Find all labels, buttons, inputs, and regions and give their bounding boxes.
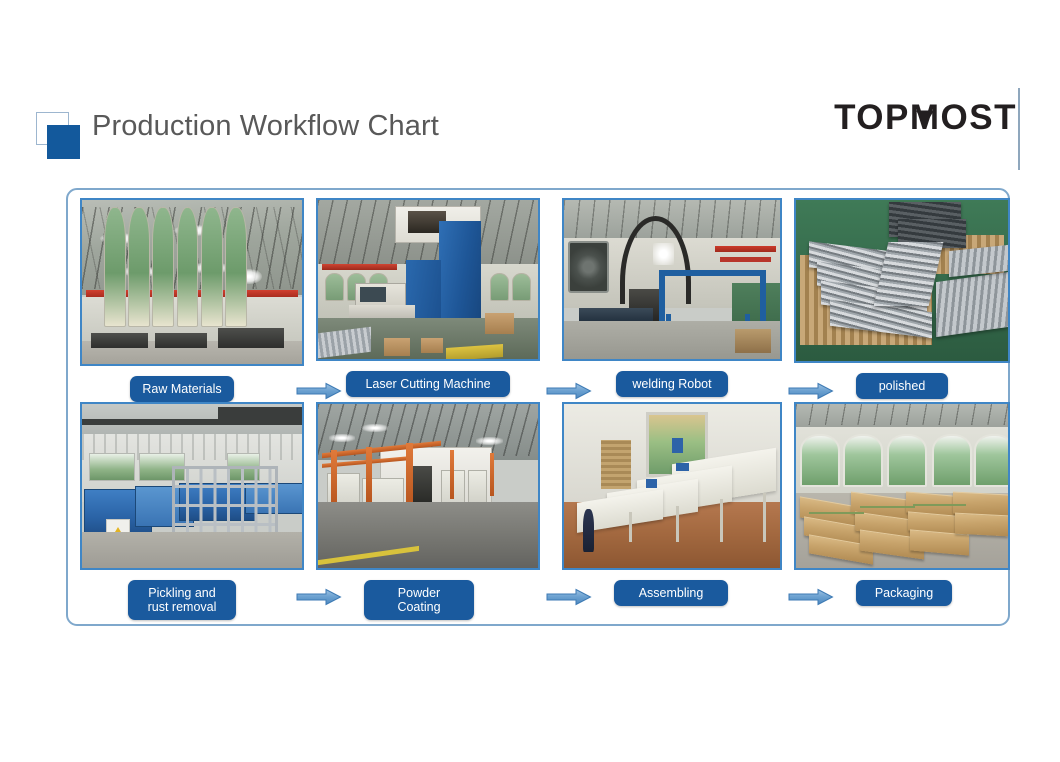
page-header: Production Workflow Chart TOPMOST xyxy=(0,0,1060,178)
right-arrow-icon-2 xyxy=(546,382,592,400)
brand-text-before: TOP xyxy=(834,98,910,137)
stage-label-laser-cutting-machine: Laser Cutting Machine xyxy=(346,371,510,397)
brand-logo-topmost: TOPMOST xyxy=(834,100,1017,135)
brand-text-after: OST xyxy=(941,98,1017,137)
photo-factory-workshop-interior xyxy=(80,198,304,366)
brand-divider xyxy=(1018,88,1020,170)
workflow-stage-polished[interactable]: polished xyxy=(794,198,1010,363)
workflow-stage-raw-materials[interactable]: Raw Materials xyxy=(80,198,304,366)
right-arrow-icon-1 xyxy=(296,382,342,400)
photo-blue-laser-cutting-machine xyxy=(316,198,540,361)
workflow-stage-welding-robot[interactable]: welding Robot xyxy=(562,198,782,361)
workflow-stage-laser-cutting-machine[interactable]: Laser Cutting Machine xyxy=(316,198,540,361)
workflow-frame: Raw Materials xyxy=(66,188,1010,626)
logo-mark-icon xyxy=(36,112,82,160)
stage-label-pickling-and-rust-removal: Pickling and rust removal xyxy=(128,580,236,620)
right-arrow-icon-6 xyxy=(788,588,834,606)
right-arrow-icon-4 xyxy=(296,588,342,606)
photo-packed-cartons-warehouse xyxy=(794,402,1010,570)
workflow-stage-powder-coating[interactable]: Powder Coating xyxy=(316,402,540,570)
photo-powder-coating-conveyor-line xyxy=(316,402,540,570)
stage-label-welding-robot: welding Robot xyxy=(616,371,728,397)
workflow-stage-assembling[interactable]: Assembling xyxy=(562,402,782,570)
brand-triangle-icon xyxy=(916,111,934,126)
workflow-stage-pickling-and-rust-removal[interactable]: Pickling and rust removal xyxy=(80,402,304,570)
right-arrow-icon-5 xyxy=(546,588,592,606)
logo-square-solid xyxy=(47,125,80,159)
photo-robotic-welding-cell xyxy=(562,198,782,361)
stage-label-assembling: Assembling xyxy=(614,580,728,606)
right-arrow-icon-3 xyxy=(788,382,834,400)
stage-label-raw-materials: Raw Materials xyxy=(130,376,234,402)
photo-pickling-tanks-and-racks xyxy=(80,402,304,570)
photo-polished-metal-parts-on-pallets xyxy=(794,198,1010,363)
stage-label-packaging: Packaging xyxy=(856,580,952,606)
page-title: Production Workflow Chart xyxy=(92,110,439,143)
photo-assembly-workstations xyxy=(562,402,782,570)
brand-letter-m: M xyxy=(910,100,941,135)
workflow-stage-packaging[interactable]: Packaging xyxy=(794,402,1010,570)
stage-label-powder-coating: Powder Coating xyxy=(364,580,474,620)
stage-label-polished: polished xyxy=(856,373,948,399)
